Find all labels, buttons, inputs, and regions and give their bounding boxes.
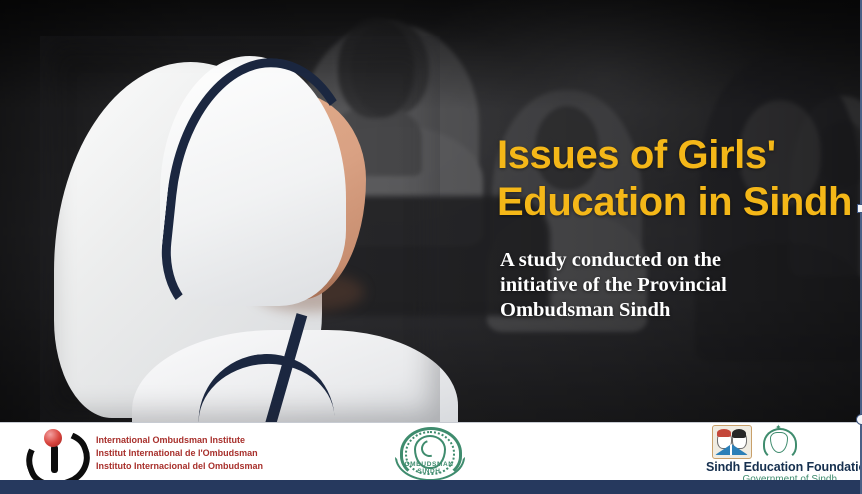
resize-handle-bottom-right[interactable] — [856, 414, 862, 425]
footer-logo-bar: International Ombudsman Institute Instit… — [0, 422, 862, 481]
ioi-emblem-icon — [22, 427, 88, 479]
resize-handle-right-middle[interactable] — [857, 204, 862, 213]
footer-accent-bar — [0, 480, 862, 494]
ombudsman-sindh-ribbon-text: OMBUDSMAN SINDH — [392, 461, 466, 475]
slide-canvas[interactable]: Issues of Girls' Education in Sindh A st… — [0, 0, 862, 494]
ioi-line-french: Institut International de l'Ombudsman — [96, 447, 263, 460]
slide-title[interactable]: Issues of Girls' Education in Sindh — [497, 132, 853, 226]
ioi-line-english: International Ombudsman Institute — [96, 434, 263, 447]
logo-international-ombudsman-institute[interactable]: International Ombudsman Institute Instit… — [22, 427, 263, 479]
sef-emblem-row: ✦ — [712, 425, 795, 459]
children-reading-book-icon — [712, 425, 752, 459]
logo-sindh-education-foundation[interactable]: ✦ Sindh Education Foundation Government … — [706, 425, 862, 479]
ioi-red-dot-icon — [44, 429, 62, 447]
foreground-student — [40, 36, 440, 422]
government-of-sindh-emblem-icon: ✦ — [761, 425, 795, 459]
logo-ombudsman-sindh[interactable]: OMBUDSMAN SINDH — [392, 425, 466, 479]
ombudsman-sindh-emblem-icon: OMBUDSMAN SINDH — [392, 425, 466, 479]
sef-title: Sindh Education Foundation — [706, 460, 862, 474]
title-block[interactable]: Issues of Girls' Education in Sindh A st… — [497, 132, 853, 323]
slide-subtitle[interactable]: A study conducted on the initiative of t… — [500, 248, 800, 323]
ioi-line-spanish: Instituto Internacional del Ombudsman — [96, 460, 263, 473]
ioi-text-lines: International Ombudsman Institute Instit… — [96, 434, 263, 473]
ioi-stem-shape — [51, 445, 58, 473]
